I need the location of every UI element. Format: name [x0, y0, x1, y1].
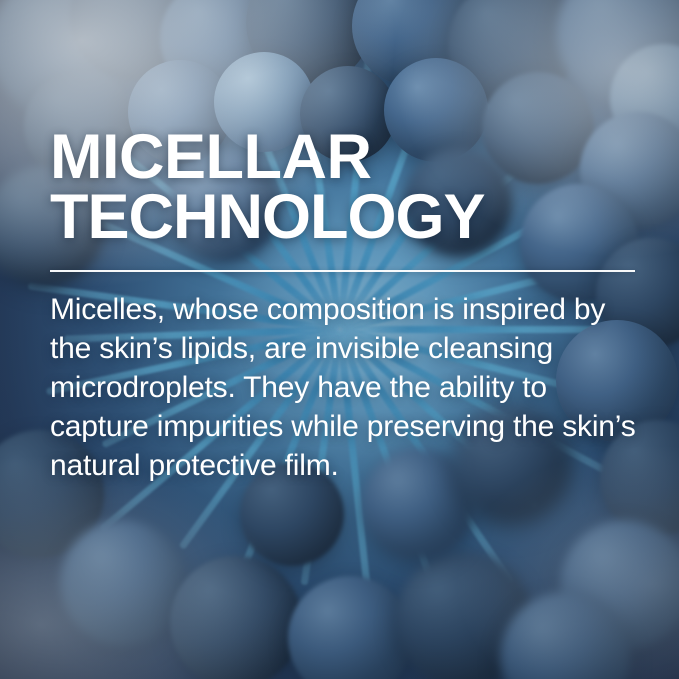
divider-rule	[50, 270, 635, 272]
headline-line-2: TECHNOLOGY	[50, 188, 635, 248]
page-title: MICELLAR TECHNOLOGY	[50, 128, 635, 248]
body-copy: Micelles, whose composition is inspired …	[50, 290, 650, 485]
poster: MICELLAR TECHNOLOGY Micelles, whose comp…	[0, 0, 679, 679]
text-overlay: MICELLAR TECHNOLOGY Micelles, whose comp…	[0, 0, 679, 679]
